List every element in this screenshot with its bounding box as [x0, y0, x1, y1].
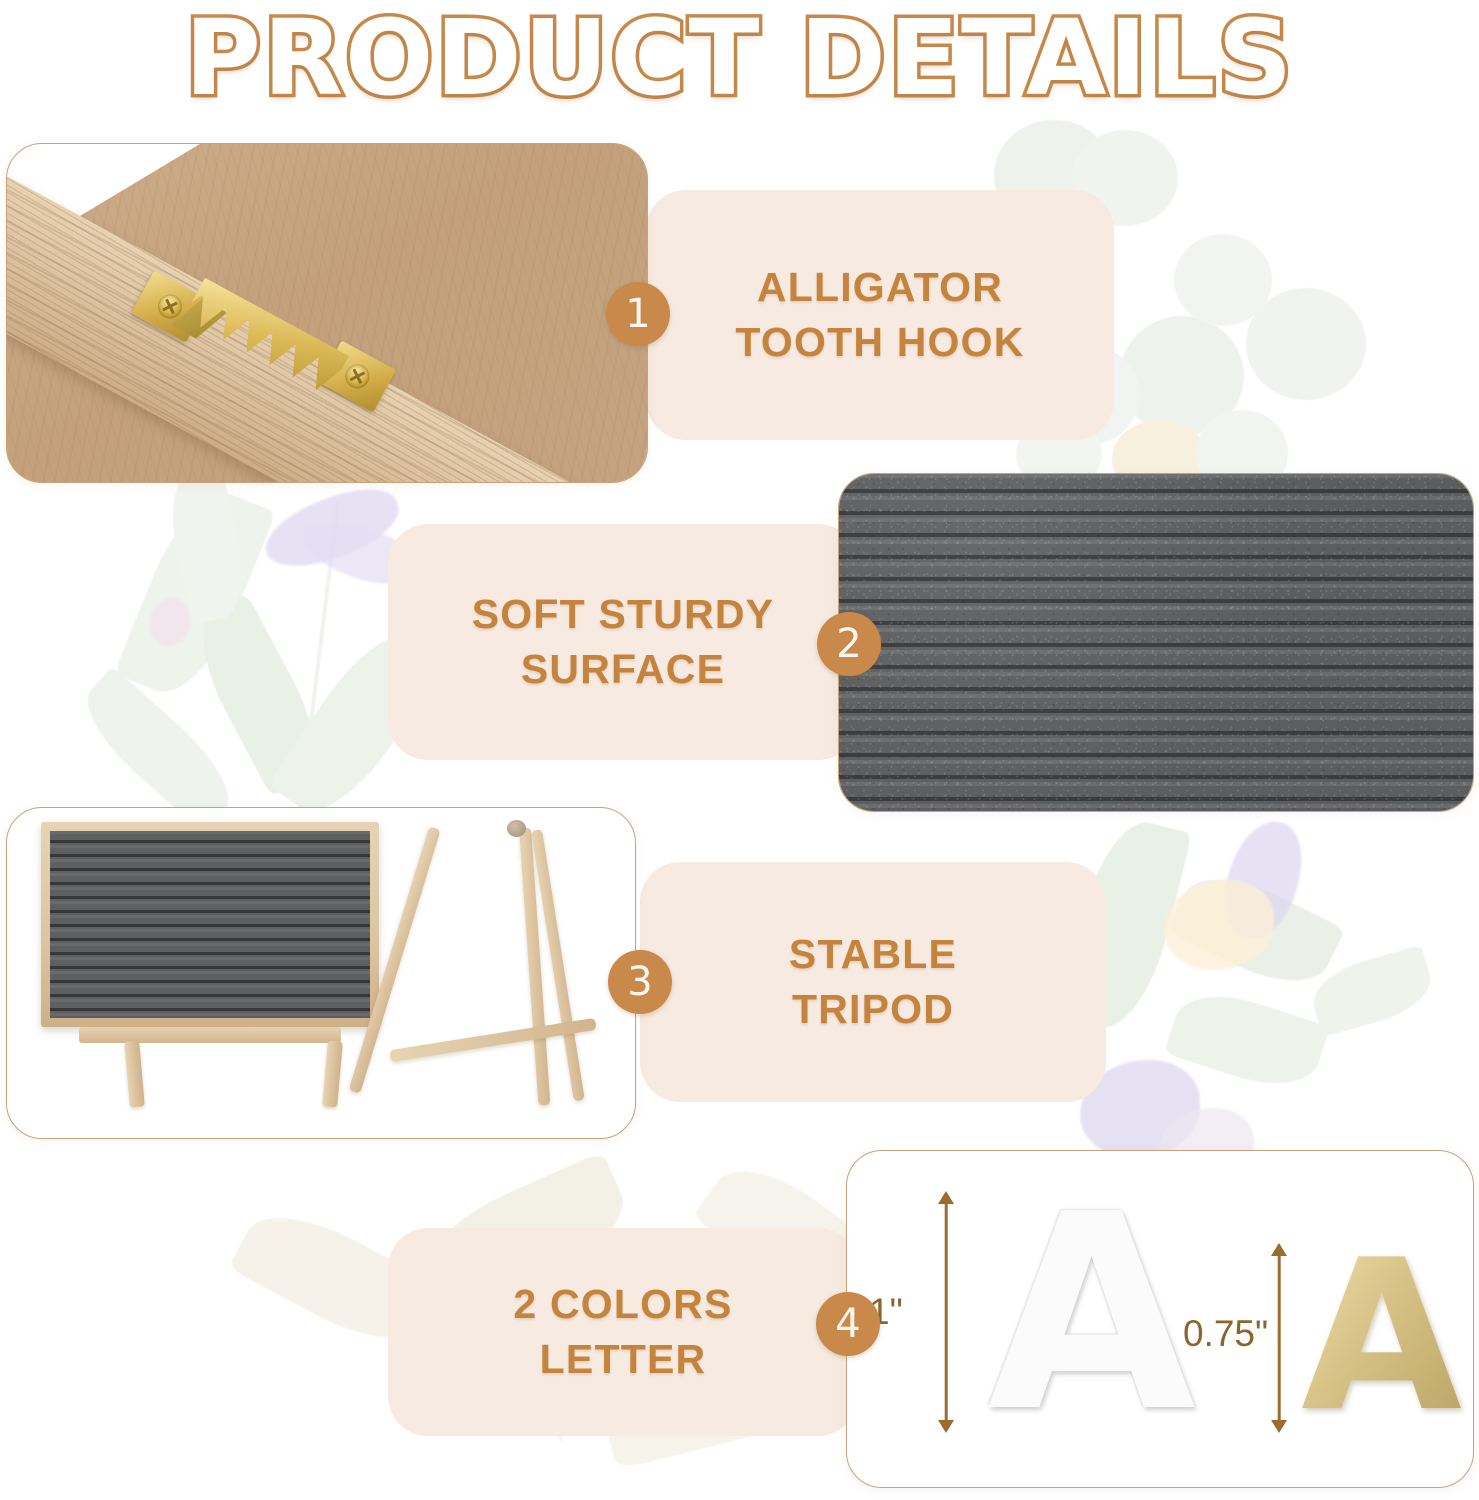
feature-label-1: ALLIGATOR TOOTH HOOK: [646, 260, 1114, 370]
feature-label-2: SOFT STURDY SURFACE: [388, 587, 858, 697]
stem-decor: [296, 501, 340, 829]
feature-label-1-line2: TOOTH HOOK: [735, 319, 1024, 365]
easel-leg-left: [124, 1040, 145, 1107]
feature-label-3-line1: STABLE: [789, 931, 957, 977]
feature-label-4: 2 COLORS LETTER: [388, 1277, 858, 1387]
leaf-decor: [114, 479, 276, 707]
leaf-decor: [1167, 859, 1346, 1001]
eucalyptus-leaf-decor: [1246, 288, 1366, 400]
petal-decor: [1216, 814, 1309, 946]
feature-label-3-line2: TRIPOD: [792, 986, 954, 1032]
standalone-tripod-easel: [411, 822, 623, 1110]
feature-badge-2: 2: [817, 612, 881, 676]
feature-badge-3: 3: [608, 950, 672, 1014]
leaf-decor: [161, 465, 253, 625]
felt-grain-overlay: [839, 474, 1473, 811]
leaf-decor: [182, 594, 337, 797]
page-title-container: PRODUCT DETAILS: [0, 2, 1479, 114]
feature-label-2-line1: SOFT STURDY: [472, 591, 774, 637]
feature-label-4-line1: 2 COLORS: [513, 1281, 732, 1327]
petal-decor: [150, 598, 190, 646]
feature-badge-4: 4: [816, 1292, 880, 1356]
letter-board-frame: [41, 822, 379, 1027]
page-title: PRODUCT DETAILS: [185, 6, 1295, 110]
arrow-head-down-icon: [938, 1420, 954, 1433]
arrow-head-down-icon: [1271, 1420, 1287, 1433]
infographic-stage: PRODUCT DETAILS ALLIGATOR TOOTH HOOK 1 S…: [0, 0, 1479, 1500]
eucalyptus-leaf-decor: [1174, 234, 1272, 326]
dimension-line: [945, 1201, 948, 1423]
easel-hinge-knob: [507, 820, 526, 837]
feature-badge-1: 1: [606, 282, 670, 346]
easel-leg-right: [322, 1040, 343, 1107]
feature-text-panel-3: STABLE TRIPOD: [640, 862, 1106, 1102]
feature-label-1-line1: ALLIGATOR: [757, 264, 1003, 310]
white-letter-a: A: [987, 1179, 1196, 1449]
feature-label-3: STABLE TRIPOD: [640, 927, 1106, 1037]
feature-label-2-line2: SURFACE: [521, 646, 725, 692]
dimension-arrow-white-letter: [931, 1191, 961, 1433]
petal-decor: [256, 478, 408, 578]
feature-text-panel-1: ALLIGATOR TOOTH HOOK: [646, 190, 1114, 440]
feature-image-panel-1: [6, 143, 648, 483]
dimension-arrow-gold-letter: [1265, 1243, 1293, 1433]
petal-decor: [1164, 880, 1274, 970]
dimension-line: [1278, 1253, 1281, 1423]
leaf-decor: [1164, 981, 1330, 1100]
gold-letter-size-label: 0.75": [1183, 1313, 1268, 1355]
feature-image-panel-2: [838, 473, 1474, 812]
gold-letter-a: A: [1301, 1233, 1462, 1441]
screw-icon: [341, 360, 374, 393]
easel-ledge: [79, 1027, 341, 1043]
feature-label-4-line2: LETTER: [540, 1336, 707, 1382]
feature-text-panel-4: 2 COLORS LETTER: [388, 1228, 858, 1436]
feature-text-panel-2: SOFT STURDY SURFACE: [388, 524, 858, 760]
leaf-decor: [1306, 945, 1438, 1038]
feature-image-panel-3: [6, 807, 636, 1139]
eucalyptus-leaf-decor: [1120, 316, 1244, 436]
feature-image-panel-4: 1" A 0.75" A: [846, 1150, 1474, 1488]
letter-board-felt-face: [50, 831, 370, 1018]
